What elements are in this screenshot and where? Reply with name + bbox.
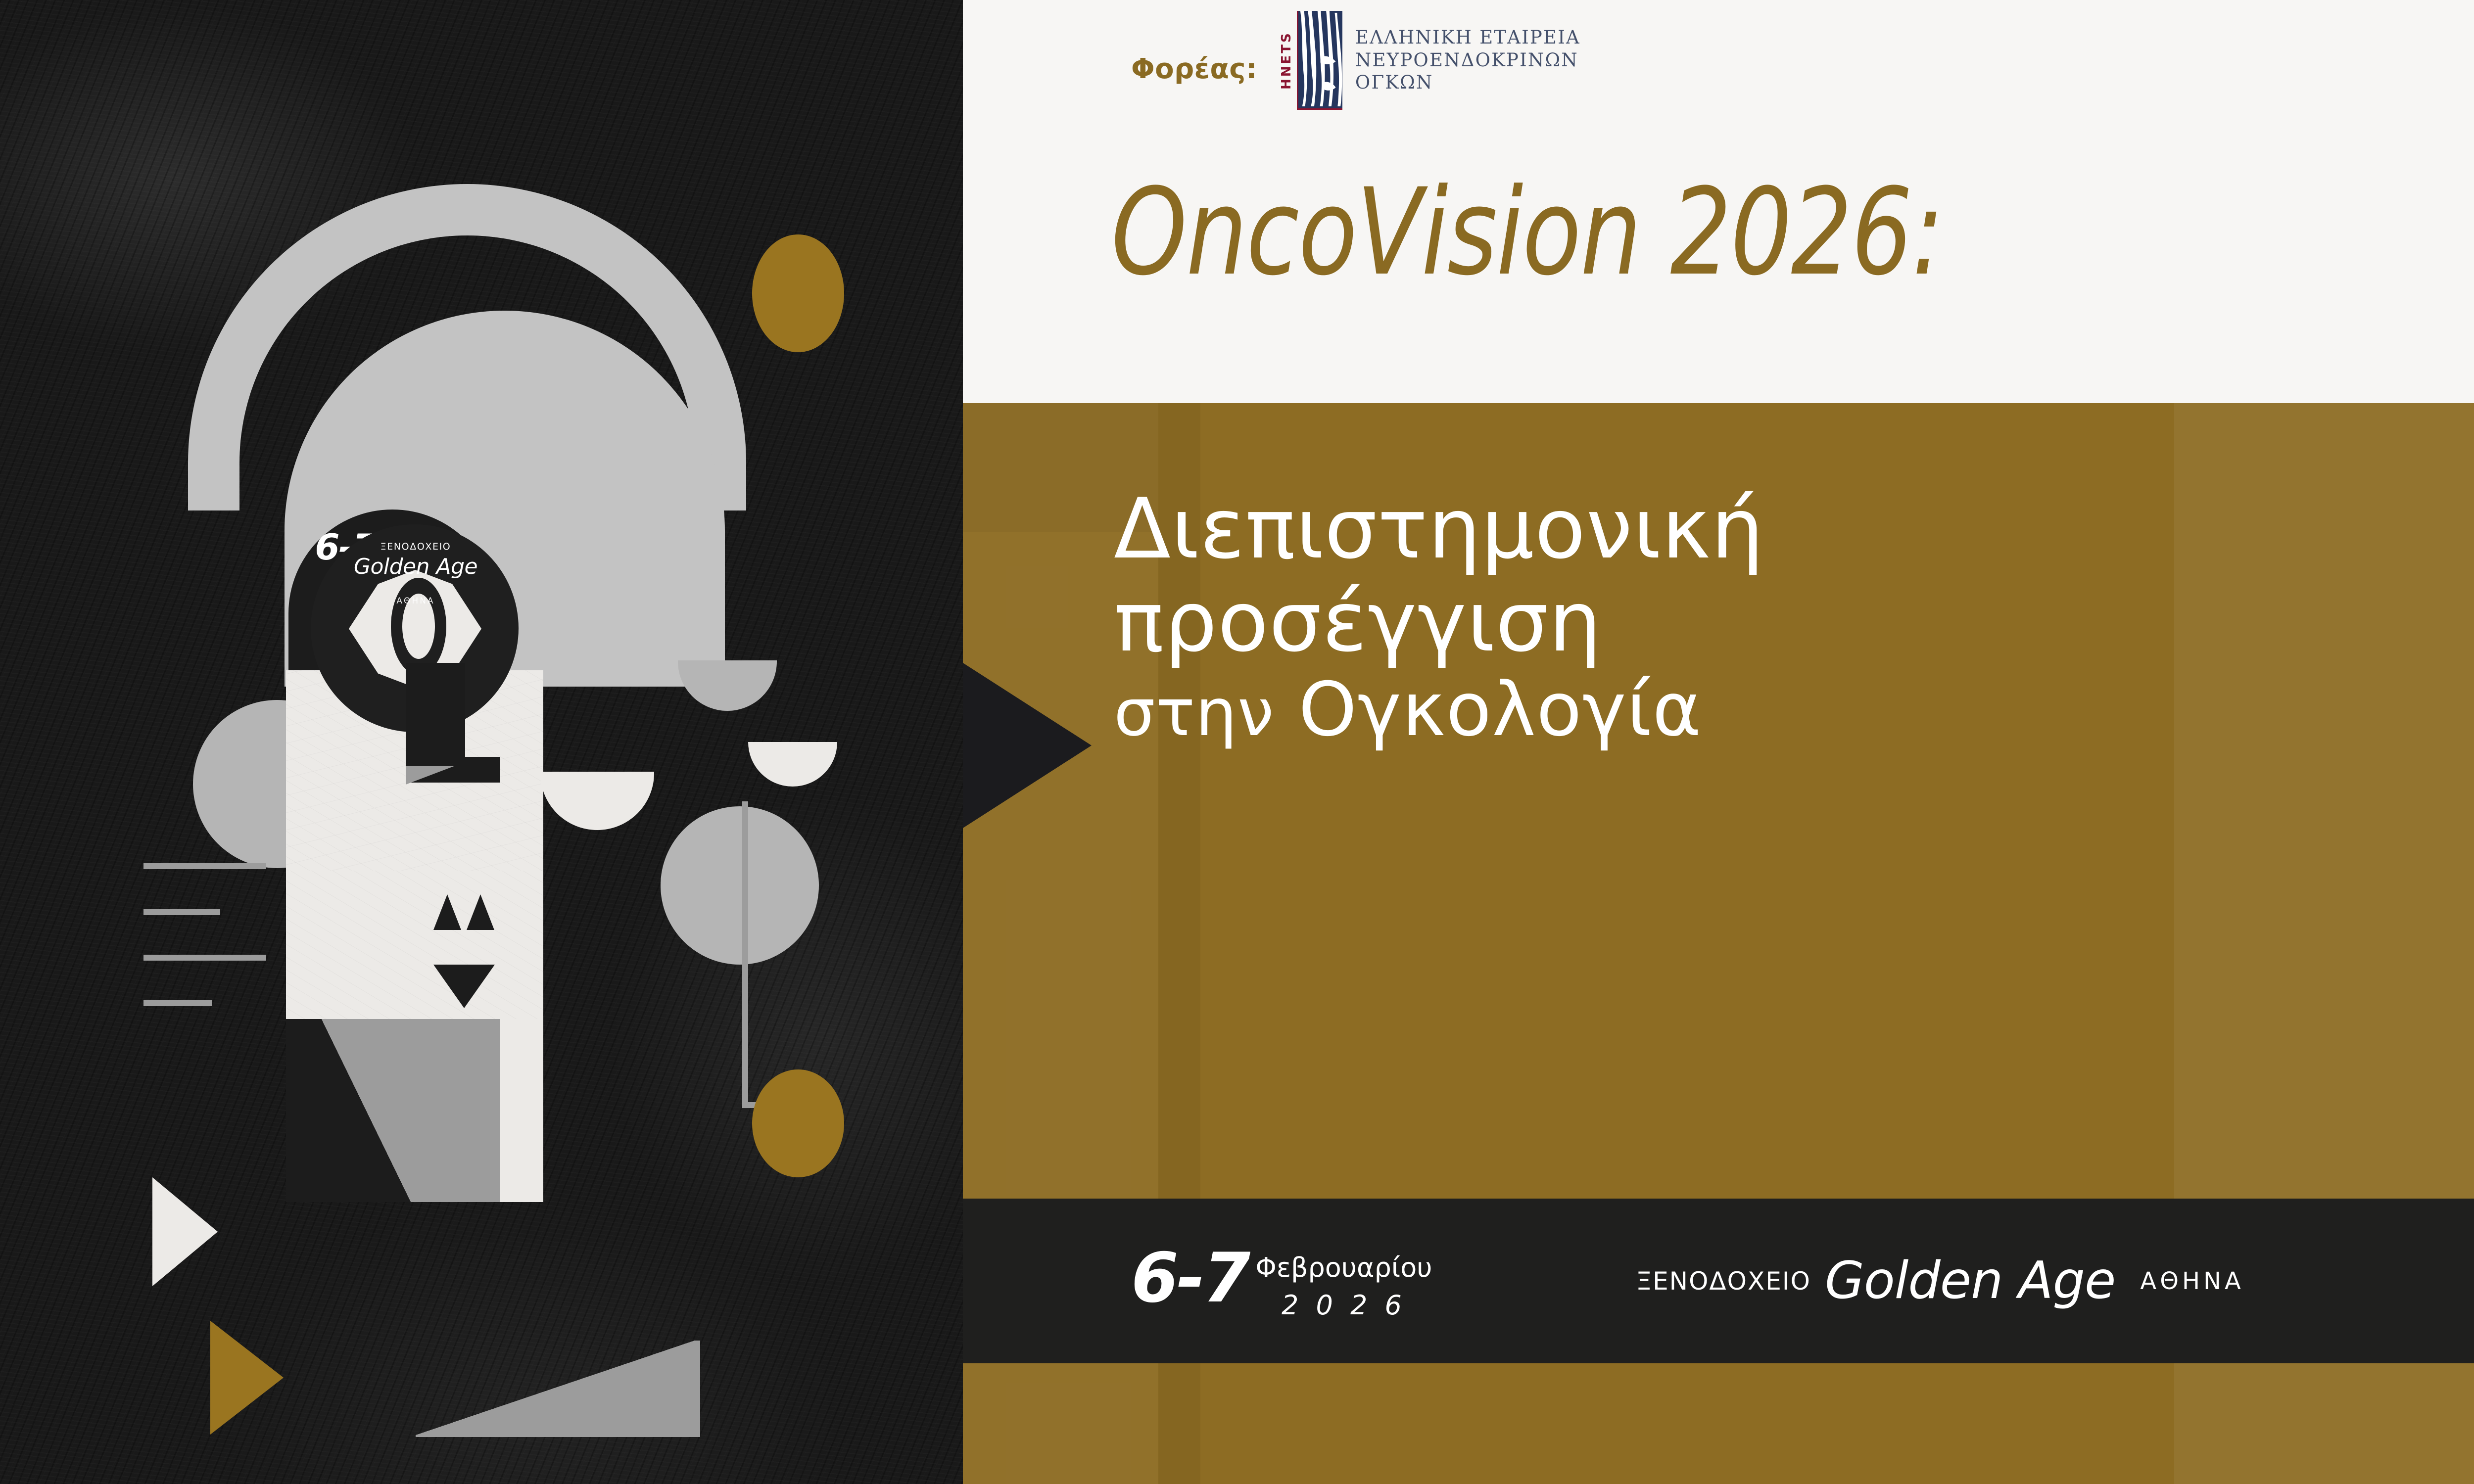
headline-line-2: προσέγγιση [1114, 575, 1764, 668]
footer-venue-kicker: ΞΕΝΟΔΟΧΕΙΟ [1636, 1267, 1810, 1296]
grey-tick-line-3 [143, 955, 266, 961]
hnets-logo: HNETS [1276, 11, 1580, 110]
white-triangle-right-icon [152, 1177, 218, 1286]
eye-pupil-icon [402, 594, 435, 659]
hnets-line-3: ΟΓΚΩΝ [1355, 73, 1580, 92]
grey-frame-vertical-line [742, 801, 748, 1108]
hnets-line-1: ΕΛΛΗΝΙΚΗ ΕΤΑΙΡΕΙΑ [1355, 28, 1580, 47]
grey-half-circle-shape [678, 660, 777, 711]
hnets-logo-mark: HNETS [1276, 11, 1342, 110]
headline-line-3-prefix: στην [1114, 675, 1275, 751]
event-headline: Διεπιστημονική προσέγγιση στην Ογκολογία [1114, 482, 1764, 751]
content-panel: Φορέας: HNETS [963, 0, 2474, 1484]
gold-footer-band [963, 1363, 2474, 1484]
footer-venue-block: ΞΕΝΟΔΟΧΕΙΟ Golden Age ΑΘΗΝΑ [1636, 1255, 2244, 1306]
footer-venue-name: Golden Age [1825, 1255, 2115, 1306]
zebra-icon [1297, 11, 1342, 110]
footer-info-bar: 6-7 Φεβρουαρίου 2 0 2 6 ΞΕΝΟΔΟΧΕΙΟ Golde… [963, 1199, 2474, 1363]
headline-line-3: στην Ογκολογία [1114, 668, 1764, 751]
organizer-label: Φορέας: [1131, 53, 1257, 85]
grey-circle-right-shape [661, 806, 819, 965]
white-half-circle-right-shape [748, 742, 837, 787]
organizer-row: Φορέας: HNETS [1131, 11, 1580, 110]
grey-base-triangle-shape [416, 1341, 700, 1437]
poster-canvas: 6-7 Φεβρουαρίου ΞΕΝΟΔΟΧΕΙΟ Golden Age ΑΘ… [0, 0, 2474, 1484]
nostril-right-icon [467, 894, 494, 930]
grey-tick-line-1 [143, 863, 266, 869]
headline-line-3-main: Ογκολογία [1298, 667, 1702, 753]
footer-date-monthyear: Φεβρουαρίου 2 0 2 6 [1255, 1254, 1432, 1319]
gold-tone-c [2174, 403, 2474, 1199]
footer-date-days: 6-7 [1131, 1248, 1248, 1309]
hnets-logo-text: ΕΛΛΗΝΙΚΗ ΕΤΑΙΡΕΙΑ ΝΕΥΡΟΕΝΔΟΚΡΙΝΩΝ ΟΓΚΩΝ [1355, 11, 1580, 110]
gold-triangle-right-icon [210, 1321, 284, 1435]
mouth-triangle-icon [433, 965, 495, 1008]
gold-foot-tone-b [1158, 1363, 1200, 1484]
hnets-acronym: HNETS [1276, 11, 1297, 110]
footer-venue-city: ΑΘΗΝΑ [2140, 1267, 2244, 1295]
headline-line-1: Διεπιστημονική [1114, 482, 1764, 575]
footer-date-block: 6-7 Φεβρουαρίου 2 0 2 6 [1131, 1244, 1432, 1319]
grey-tick-line-2 [143, 909, 220, 915]
white-half-circle-mid-shape [540, 772, 654, 830]
footer-date-month: Φεβρουαρίου [1255, 1254, 1432, 1281]
hnets-line-2: ΝΕΥΡΟΕΝΔΟΚΡΙΝΩΝ [1355, 51, 1580, 70]
gold-foot-tone-c [2174, 1363, 2474, 1484]
grey-tick-line-4 [143, 1000, 212, 1006]
event-brand-title: OncoVision 2026: [1111, 173, 1943, 293]
gold-foot-tone-a [963, 1363, 1158, 1484]
black-arrow-right-icon [963, 663, 1092, 828]
white-neck-strip-shape [500, 1019, 543, 1202]
gold-ellipse-lower-icon [752, 1069, 844, 1177]
nostril-left-icon [433, 894, 461, 930]
footer-date-year: 2 0 2 6 [1255, 1292, 1432, 1319]
nose-shadow-shape [406, 766, 455, 785]
artwork-panel: 6-7 Φεβρουαρίου ΞΕΝΟΔΟΧΕΙΟ Golden Age ΑΘ… [0, 0, 963, 1484]
gold-ellipse-upper-icon [752, 234, 844, 352]
